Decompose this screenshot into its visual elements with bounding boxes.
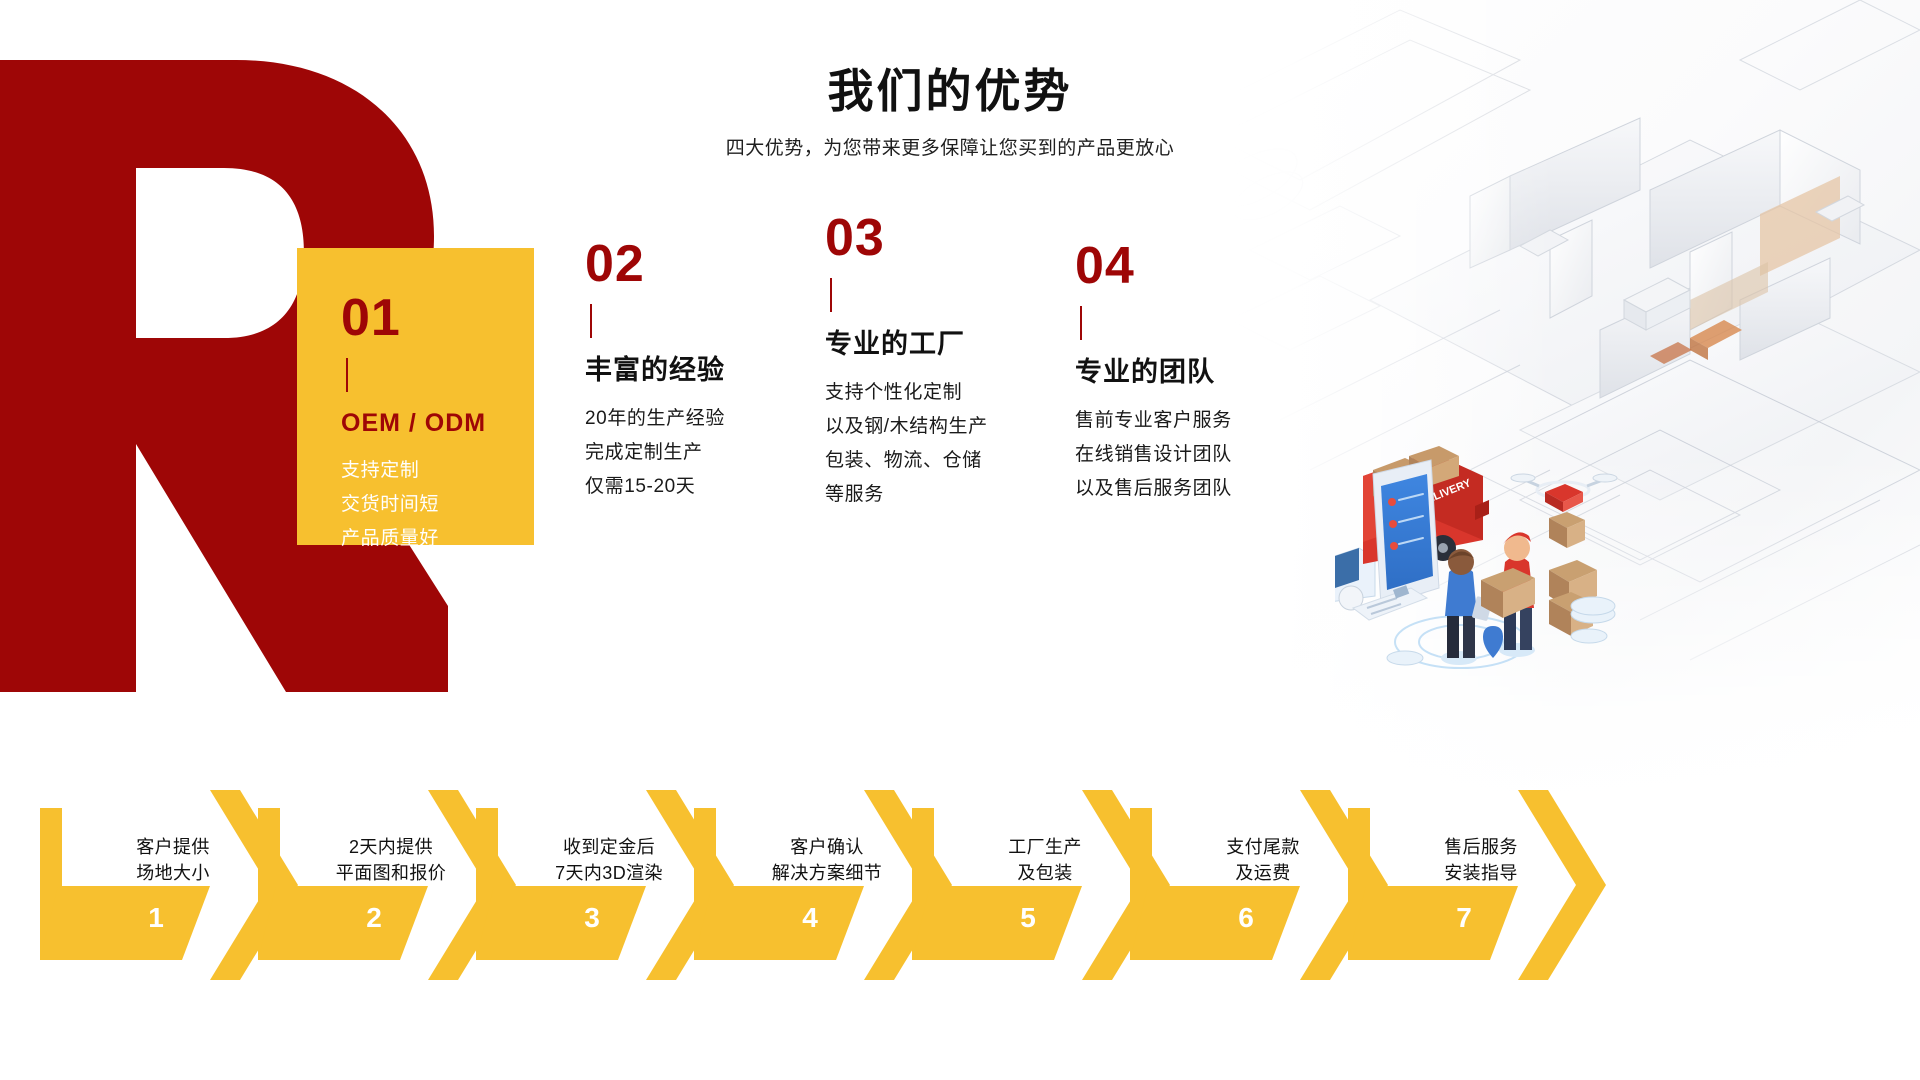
step-label-line1: 售后服务 (1396, 834, 1566, 860)
page-subtitle: 四大优势，为您带来更多保障让您买到的产品更放心 (640, 133, 1260, 160)
feature-lines: 支持定制 交货时间短 产品质量好 (341, 454, 534, 556)
feature-heading: 丰富的经验 (585, 354, 815, 386)
feature-line: 支持定制 (341, 454, 534, 488)
feature-line: 产品质量好 (341, 522, 534, 556)
step-label-line2: 解决方案细节 (742, 860, 912, 886)
feature-number: 03 (825, 212, 1075, 264)
step-label-line2: 平面图和报价 (306, 860, 476, 886)
step-label: 支付尾款 及运费 (1178, 834, 1348, 886)
advantages-poster: 我们的优势 四大优势，为您带来更多保障让您买到的产品更放心 (0, 0, 1920, 1080)
feature-line: 支持个性化定制 (825, 376, 1075, 410)
feature-line: 包装、物流、仓储 (825, 444, 1075, 478)
step-index: 1 (126, 902, 186, 934)
process-steps: 客户提供 场地大小 1 2天内提供 平面图和报价 2 (0, 790, 1920, 980)
feature-card-02[interactable]: 02 丰富的经验 20年的生产经验 完成定制生产 仅需15-20天 (585, 238, 815, 504)
step-index: 4 (780, 902, 840, 934)
process-step-7[interactable]: 售后服务 安装指导 7 (1348, 790, 1608, 980)
feature-line: 完成定制生产 (585, 436, 815, 470)
feature-divider (346, 358, 348, 392)
step-label-line1: 客户提供 (88, 834, 258, 860)
feature-divider (1080, 306, 1082, 340)
step-label-line1: 工厂生产 (960, 834, 1130, 860)
feature-number: 02 (585, 238, 815, 290)
step-index: 7 (1434, 902, 1494, 934)
step-index: 5 (998, 902, 1058, 934)
step-label-line1: 客户确认 (742, 834, 912, 860)
step-label-line2: 场地大小 (88, 860, 258, 886)
feature-lines: 支持个性化定制 以及钢/木结构生产 包装、物流、仓储 等服务 (825, 376, 1075, 512)
feature-line: 在线销售设计团队 (1075, 438, 1325, 472)
step-label: 客户提供 场地大小 (88, 834, 258, 886)
feature-line: 以及钢/木结构生产 (825, 410, 1075, 444)
step-label: 客户确认 解决方案细节 (742, 834, 912, 886)
feature-card-03[interactable]: 03 专业的工厂 支持个性化定制 以及钢/木结构生产 包装、物流、仓储 等服务 (825, 212, 1075, 512)
feature-heading: OEM / ODM (341, 408, 534, 438)
feature-card-04[interactable]: 04 专业的团队 售前专业客户服务 在线销售设计团队 以及售后服务团队 (1075, 240, 1325, 506)
feature-heading: 专业的团队 (1075, 356, 1325, 388)
step-index: 3 (562, 902, 622, 934)
feature-line: 仅需15-20天 (585, 470, 815, 504)
feature-heading: 专业的工厂 (825, 328, 1075, 360)
step-label-line2: 及包装 (960, 860, 1130, 886)
feature-line: 20年的生产经验 (585, 402, 815, 436)
feature-divider (830, 278, 832, 312)
step-label: 2天内提供 平面图和报价 (306, 834, 476, 886)
feature-line: 以及售后服务团队 (1075, 472, 1325, 506)
feature-lines: 20年的生产经验 完成定制生产 仅需15-20天 (585, 402, 815, 504)
step-label: 售后服务 安装指导 (1396, 834, 1566, 886)
header: 我们的优势 四大优势，为您带来更多保障让您买到的产品更放心 (640, 66, 1260, 160)
feature-number: 04 (1075, 240, 1325, 292)
feature-lines: 售前专业客户服务 在线销售设计团队 以及售后服务团队 (1075, 404, 1325, 506)
step-label-line2: 安装指导 (1396, 860, 1566, 886)
feature-line: 等服务 (825, 478, 1075, 512)
step-label-line1: 支付尾款 (1178, 834, 1348, 860)
step-label-line1: 2天内提供 (306, 834, 476, 860)
step-label: 收到定金后 7天内3D渲染 (524, 834, 694, 886)
feature-line: 交货时间短 (341, 488, 534, 522)
step-label-line2: 及运费 (1178, 860, 1348, 886)
step-label-line2: 7天内3D渲染 (524, 860, 694, 886)
feature-card-01[interactable]: 01 OEM / ODM 支持定制 交货时间短 产品质量好 (297, 248, 534, 545)
step-index: 6 (1216, 902, 1276, 934)
feature-line: 售前专业客户服务 (1075, 404, 1325, 438)
feature-divider (590, 304, 592, 338)
step-label: 工厂生产 及包装 (960, 834, 1130, 886)
page-title: 我们的优势 (640, 66, 1260, 117)
step-label-line1: 收到定金后 (524, 834, 694, 860)
feature-number: 01 (341, 292, 534, 344)
step-index: 2 (344, 902, 404, 934)
